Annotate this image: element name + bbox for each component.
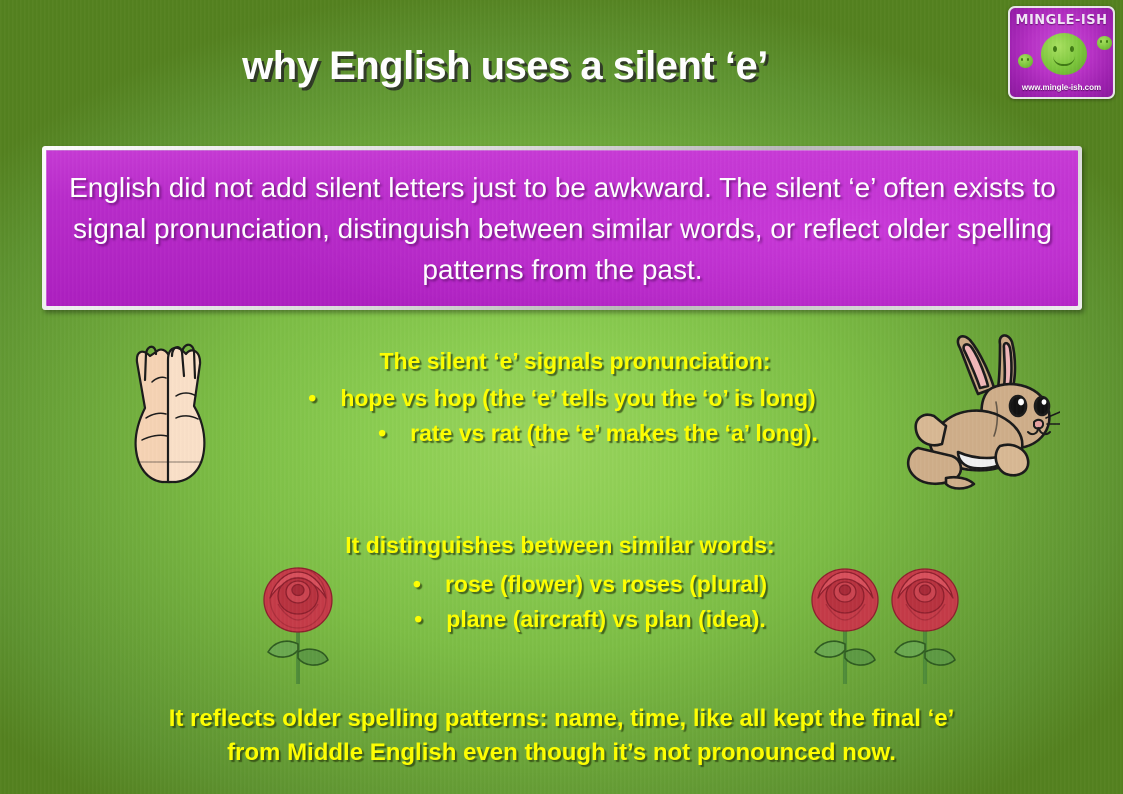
intro-callout-inner: English did not add silent letters just … bbox=[46, 150, 1078, 306]
bullet-icon: • bbox=[413, 571, 445, 598]
rose-right-icon bbox=[892, 569, 958, 684]
section-distinguishes-bullet-1: •rose (flower) vs roses (plural) bbox=[260, 571, 860, 598]
smiley-face-small-right-icon bbox=[1097, 36, 1112, 50]
logo-website-url: www.mingle-ish.com bbox=[1010, 83, 1113, 92]
smiley-eye-left-icon bbox=[1021, 58, 1023, 61]
hopping-rabbit-image bbox=[900, 330, 1060, 496]
bullet-text: hope vs hop (the ‘e’ tells you the ‘o’ i… bbox=[340, 385, 815, 411]
section-distinguishes-bullet-2: •plane (aircraft) vs plan (idea). bbox=[260, 606, 860, 633]
section-pronunciation-bullet-1: •hope vs hop (the ‘e’ tells you the ‘o’ … bbox=[245, 385, 905, 412]
section-pronunciation-heading: The silent ‘e’ signals pronunciation: bbox=[245, 348, 905, 375]
section-distinguishes-heading: It distinguishes between similar words: bbox=[260, 532, 860, 559]
bullet-text: rose (flower) vs roses (plural) bbox=[445, 571, 767, 597]
slide-title: why English uses a silent ‘e’ bbox=[0, 44, 1010, 89]
smiley-face-small-left-icon bbox=[1018, 54, 1033, 68]
smiley-eye-left-icon bbox=[1053, 46, 1057, 52]
footer-line-2: from Middle English even though it’s not… bbox=[0, 736, 1123, 770]
bullet-text: rate vs rat (the ‘e’ makes the ‘a’ long)… bbox=[410, 420, 818, 446]
smiley-mouth-icon bbox=[1053, 56, 1075, 66]
intro-callout-box: English did not add silent letters just … bbox=[42, 146, 1082, 310]
mingle-ish-logo[interactable]: MINGLE-ISH www.mingle-ish.com bbox=[1008, 6, 1115, 99]
section-pronunciation: The silent ‘e’ signals pronunciation: •h… bbox=[245, 348, 905, 447]
bullet-icon: • bbox=[414, 606, 446, 633]
smiley-eye-left-icon bbox=[1100, 40, 1102, 43]
bullet-text: plane (aircraft) vs plan (idea). bbox=[446, 606, 766, 632]
praying-hands-image bbox=[112, 322, 224, 488]
smiley-eye-right-icon bbox=[1027, 58, 1029, 61]
bullet-icon: • bbox=[308, 385, 340, 412]
slide-canvas: MINGLE-ISH www.mingle-ish.com why Englis… bbox=[0, 0, 1123, 794]
smiley-face-large-icon bbox=[1041, 33, 1087, 75]
bullet-icon: • bbox=[378, 420, 410, 447]
section-distinguishes: It distinguishes between similar words: … bbox=[260, 532, 860, 633]
smiley-eye-right-icon bbox=[1106, 40, 1108, 43]
section-pronunciation-bullet-2: •rate vs rat (the ‘e’ makes the ‘a’ long… bbox=[245, 420, 905, 447]
footer-line-1: It reflects older spelling patterns: nam… bbox=[0, 702, 1123, 736]
logo-brand-text: MINGLE-ISH bbox=[1010, 13, 1113, 28]
section-older-spelling: It reflects older spelling patterns: nam… bbox=[0, 702, 1123, 770]
intro-callout-text: English did not add silent letters just … bbox=[47, 167, 1078, 290]
smiley-eye-right-icon bbox=[1070, 46, 1074, 52]
